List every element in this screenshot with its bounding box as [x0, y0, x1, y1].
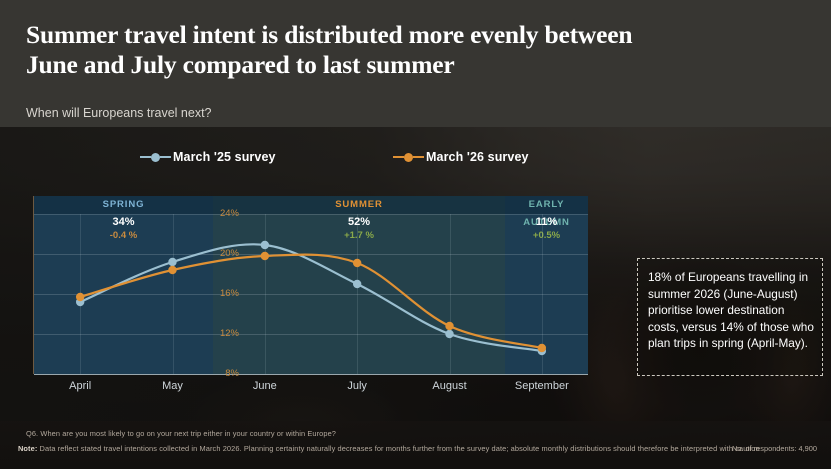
x-axis-tick-label: July	[312, 380, 402, 392]
legend-line-icon	[160, 156, 171, 159]
data-point[interactable]	[353, 280, 361, 288]
x-axis-tick-label: April	[35, 380, 125, 392]
data-point[interactable]	[261, 241, 269, 249]
annotation-callout: 18% of Europeans travelling in summer 20…	[637, 258, 823, 376]
infographic-canvas: Summer travel intent is distributed more…	[0, 0, 831, 469]
chart-series-layer	[34, 196, 588, 374]
footnote-note-label: Note:	[18, 444, 37, 453]
x-axis-line	[34, 374, 588, 375]
data-point[interactable]	[168, 266, 176, 274]
legend-item-label: March '26 survey	[426, 150, 529, 164]
data-point[interactable]	[445, 322, 453, 330]
footnote-question: Q6. When are you most likely to go on yo…	[26, 429, 336, 438]
series-line-2	[80, 255, 542, 348]
page-title: Summer travel intent is distributed more…	[26, 20, 686, 80]
legend-item-2[interactable]: March '26 survey	[393, 150, 529, 164]
y-axis-tick-label: 20%	[211, 248, 239, 259]
footnote-note: Note: Data reflect stated travel intenti…	[18, 444, 760, 453]
page-subtitle: When will Europeans travel next?	[26, 106, 212, 120]
footnote-respondents: No. of respondents: 4,900	[732, 444, 817, 453]
legend-item-1[interactable]: March '25 survey	[140, 150, 276, 164]
data-point[interactable]	[445, 330, 453, 338]
x-axis-tick-label: June	[220, 380, 310, 392]
data-point[interactable]	[538, 344, 546, 352]
data-point[interactable]	[76, 293, 84, 301]
data-point[interactable]	[261, 252, 269, 260]
legend-line-icon	[140, 156, 151, 159]
legend-dot-icon	[151, 153, 160, 162]
y-axis-tick-label: 8%	[211, 368, 239, 379]
x-axis-tick-label: September	[497, 380, 587, 392]
legend-item-label: March '25 survey	[173, 150, 276, 164]
data-point[interactable]	[168, 258, 176, 266]
y-axis-tick-label: 16%	[211, 288, 239, 299]
x-axis-tick-label: May	[128, 380, 218, 392]
legend-line-icon	[393, 156, 404, 159]
legend-line-icon	[413, 156, 424, 159]
chart-legend: March '25 surveyMarch '26 survey	[140, 150, 560, 172]
x-axis-tick-label: August	[405, 380, 495, 392]
y-axis-tick-label: 12%	[211, 328, 239, 339]
footnote-note-text: Data reflect stated travel intentions co…	[37, 444, 759, 453]
legend-dot-icon	[404, 153, 413, 162]
data-point[interactable]	[353, 259, 361, 267]
y-axis-tick-label: 24%	[211, 208, 239, 219]
